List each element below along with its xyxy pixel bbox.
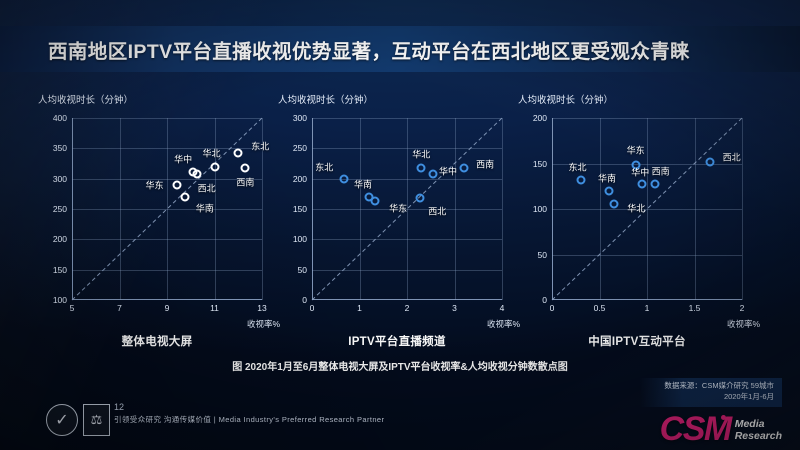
scatter-point-label: 华南: [354, 177, 372, 190]
y-axis-tick-label: 200: [293, 174, 307, 184]
y-axis-tick-label: 50: [298, 265, 307, 275]
chart-title: IPTV平台直播频道: [272, 333, 522, 349]
footer: ✓ ⚖ 12 引领受众研究 沟通传媒价值 | Media Industry's …: [0, 398, 800, 450]
plot-area: 05010015020000.511.52东北华南华北华东华中西南西北: [552, 118, 742, 300]
y-axis-tick-label: 150: [293, 204, 307, 214]
scatter-point[interactable]: [172, 180, 181, 189]
x-axis-tick-label: 0.5: [594, 303, 606, 313]
scatter-point-label: 西北: [428, 205, 446, 218]
y-axis-tick-label: 50: [538, 250, 547, 260]
y-axis-tick-label: 400: [53, 113, 67, 123]
x-axis-tick-label: 0: [310, 303, 315, 313]
y-axis-tick-label: 100: [533, 204, 547, 214]
data-source-line1: 数据来源：CSM媒介研究 59城市: [664, 381, 774, 392]
y-axis-title: 人均收视时长（分钟）: [38, 92, 133, 106]
x-axis-tick-label: 13: [257, 303, 266, 313]
slide-root: 西南地区IPTV平台直播收视优势显著，互动平台在西北地区更受观众青睐 人均收视时…: [0, 0, 800, 450]
csm-logo-wordmark: CSM: [660, 415, 731, 444]
scatter-point[interactable]: [650, 179, 659, 188]
y-axis-title: 人均收视时长（分钟）: [518, 92, 613, 106]
footer-tagline: 引领受众研究 沟通传媒价值 | Media Industry's Preferr…: [114, 414, 384, 425]
x-axis-tick-label: 2: [740, 303, 745, 313]
cnas-certification-icon: ⚖: [83, 404, 110, 436]
scatter-point[interactable]: [576, 175, 585, 184]
x-axis-tick-label: 5: [70, 303, 75, 313]
y-axis-tick-label: 0: [542, 295, 547, 305]
csm-logo-dot: [721, 415, 726, 420]
x-axis-tick-label: 0: [550, 303, 555, 313]
x-axis-tick-label: 3: [452, 303, 457, 313]
scatter-point-label: 华北: [627, 202, 645, 215]
y-axis-tick-label: 300: [53, 174, 67, 184]
chart-panel-iptv-live: 人均收视时长（分钟）05010015020025030001234东北华南华东西…: [272, 92, 522, 352]
footer-text: 12 引领受众研究 沟通传媒价值 | Media Industry's Pref…: [114, 402, 384, 425]
scatter-point-label: 西北: [198, 181, 216, 194]
scatter-point-label: 华南: [598, 171, 616, 184]
y-axis-tick-label: 300: [293, 113, 307, 123]
scatter-point-label: 西南: [476, 157, 494, 170]
y-axis-title: 人均收视时长（分钟）: [278, 92, 373, 106]
scatter-point[interactable]: [638, 179, 647, 188]
y-axis-tick-label: 250: [293, 143, 307, 153]
y-axis-tick-label: 100: [293, 234, 307, 244]
x-axis-tick-label: 2: [405, 303, 410, 313]
csm-logo: CSM Media Research: [660, 415, 782, 444]
y-axis-tick-label: 200: [533, 113, 547, 123]
scatter-point-label: 华东: [145, 178, 163, 191]
scatter-point-label: 华北: [412, 147, 430, 160]
y-axis-tick-label: 100: [53, 295, 67, 305]
scatter-point[interactable]: [460, 163, 469, 172]
scatter-point[interactable]: [705, 157, 714, 166]
scatter-point[interactable]: [210, 162, 219, 171]
sgs-certification-icon: ✓: [46, 404, 78, 436]
scatter-point[interactable]: [192, 169, 201, 178]
scatter-point[interactable]: [371, 197, 380, 206]
x-axis-tick-label: 7: [117, 303, 122, 313]
chart-title: 整体电视大屏: [32, 333, 282, 349]
scatter-point[interactable]: [234, 149, 243, 158]
y-axis-tick-label: 0: [302, 295, 307, 305]
x-axis-tick-label: 1: [645, 303, 650, 313]
plot-area: 1001502002503003504005791113华东华南华中西北华北东北…: [72, 118, 262, 300]
scatter-point-label: 华中: [174, 152, 192, 165]
csm-logo-media: Media: [735, 419, 782, 430]
x-axis-unit-label: 收视率%: [727, 318, 760, 330]
scatter-point-label: 西南: [236, 175, 254, 188]
figure-caption: 图 2020年1月至6月整体电视大屏及IPTV平台收视率&人均收视分钟数散点图: [0, 358, 800, 373]
scatter-point-label: 华东: [627, 144, 645, 157]
scatter-point-label: 西南: [652, 164, 670, 177]
y-axis-tick-label: 200: [53, 234, 67, 244]
scatter-point[interactable]: [416, 194, 425, 203]
y-axis-tick-label: 350: [53, 143, 67, 153]
scatter-point[interactable]: [340, 175, 349, 184]
scatter-point[interactable]: [605, 186, 614, 195]
diagonal-reference-line: [72, 118, 262, 300]
scatter-point[interactable]: [610, 200, 619, 209]
x-axis-tick-label: 1: [357, 303, 362, 313]
scatter-point-label: 华南: [196, 201, 214, 214]
y-axis-tick-label: 250: [53, 204, 67, 214]
x-axis-tick-label: 9: [165, 303, 170, 313]
x-axis-tick-label: 4: [500, 303, 505, 313]
plot-area: 05010015020025030001234东北华南华东西北华北西南华中: [312, 118, 502, 300]
y-axis-tick-label: 150: [53, 265, 67, 275]
gridline-vertical: [742, 118, 743, 300]
page-number: 12: [114, 402, 384, 412]
scatter-point-label: 东北: [568, 160, 586, 173]
scatter-point-label: 东北: [251, 140, 269, 153]
gridline-vertical: [502, 118, 503, 300]
scatter-point[interactable]: [180, 192, 189, 201]
scatter-point[interactable]: [241, 163, 250, 172]
title-band: 西南地区IPTV平台直播收视优势显著，互动平台在西北地区更受观众青睐: [0, 26, 800, 72]
y-axis-tick-label: 150: [533, 159, 547, 169]
x-axis-tick-label: 11: [210, 303, 219, 313]
csm-logo-research: Research: [735, 431, 782, 442]
chart-panel-iptv-interactive: 人均收视时长（分钟）05010015020000.511.52东北华南华北华东华…: [512, 92, 762, 352]
scatter-point[interactable]: [417, 163, 426, 172]
scatter-point-label: 华北: [202, 146, 220, 159]
diagonal-reference-line: [552, 118, 742, 300]
scatter-point-label: 华东: [389, 202, 407, 215]
csm-logo-subtext: Media Research: [735, 419, 782, 444]
x-axis-tick-label: 1.5: [689, 303, 701, 313]
scatter-point-label: 华中: [631, 165, 649, 178]
scatter-point-label: 西北: [723, 150, 741, 163]
chart-title: 中国IPTV互动平台: [512, 333, 762, 349]
scatter-point[interactable]: [429, 169, 438, 178]
page-title: 西南地区IPTV平台直播收视优势显著，互动平台在西北地区更受观众青睐: [48, 35, 690, 64]
chart-panel-overall-tv: 人均收视时长（分钟）1001502002503003504005791113华东…: [32, 92, 282, 352]
scatter-point-label: 东北: [315, 161, 333, 174]
certification-badges: ✓ ⚖: [46, 404, 110, 436]
scatter-point-label: 华中: [439, 164, 457, 177]
charts-row: 人均收视时长（分钟）1001502002503003504005791113华东…: [0, 92, 800, 352]
